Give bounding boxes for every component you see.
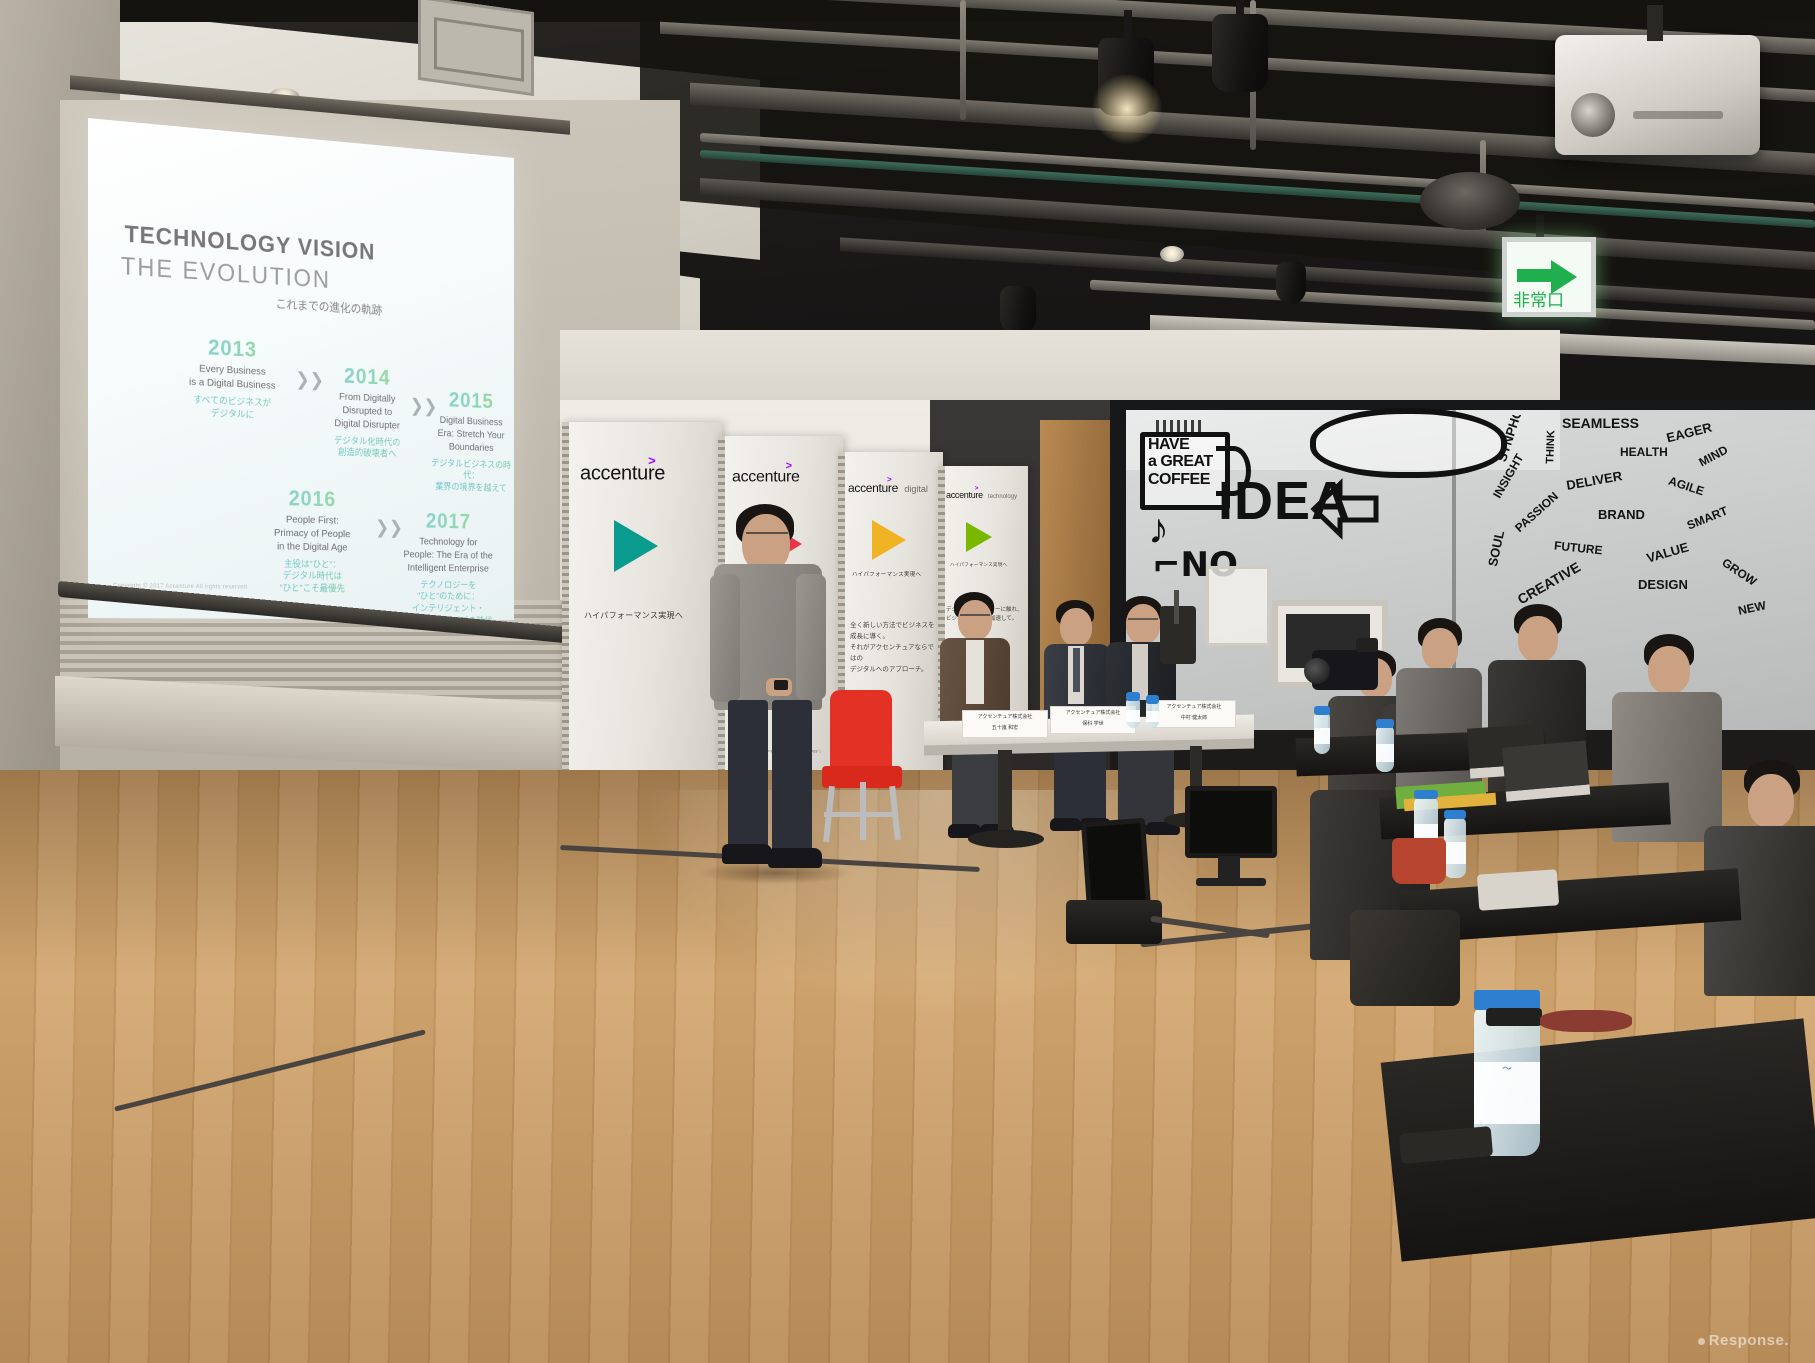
mic-stand-pole [1174,590,1179,624]
banner-tagline: ハイパフォーマンス実現へ [950,562,1007,568]
paper-stack [1477,869,1559,910]
nameplate-3: アクセンチュア株式会社中村 健太郎 [1152,700,1236,728]
table-pedestal-base [968,830,1044,848]
water-bottle [1376,726,1394,772]
timeline-en: From Digitally Disrupted to Digital Disr… [315,390,418,434]
banner-body: 全く新しい方法でビジネスを成長に導く。 それがアクセンチュアならではの デジタル… [850,620,938,675]
video-camera [1312,650,1378,690]
banner-chevron-icon [872,520,906,560]
timeline-jp: すべてのビジネスが デジタルに [172,394,292,424]
logo-accent-icon: > [648,453,655,468]
presenter-shadow [700,862,850,884]
timeline-en: Digital Business Era: Stretch Your Bound… [424,414,518,457]
nameplate-1: アクセンチュア株式会社五十嵐 和宏 [962,710,1048,738]
timeline-jp: デジタルビジネスの時代： 業界の境界を越えて [424,457,518,496]
slide-content: TECHNOLOGY VISION THE EVOLUTION これまでの進化の… [88,118,514,620]
slide-subtitle-jp: これまでの進化の軌跡 [276,295,383,318]
glass-frame [1110,400,1815,410]
banner-chevron-icon [614,520,658,572]
word-cloud-doodle: SYNPHONY SEAMLESS EAGER THINK HEALTH MIN… [1470,415,1815,635]
exit-sign: 非常口 [1502,237,1596,317]
logo-accent-icon: > [975,486,978,492]
backpack [1350,910,1460,1006]
nameplate-2: アクセンチュア株式会社保科 学世 [1050,706,1136,734]
bottle-label-art: 〜 [1486,1064,1528,1108]
equipment-case [1066,900,1162,944]
timeline-item-2014: 2014 From Digitally Disrupted to Digital… [315,362,418,463]
mug-steam-doodle [1152,420,1204,434]
projector-mount [1647,5,1663,41]
exit-sign-label: 非常口 [1513,292,1564,309]
logo-accent-icon: > [786,460,792,472]
timeline-item-2017: 2017 Technology for People: The Era of t… [393,508,503,628]
timeline-en: People First: Primacy of People in the D… [250,513,373,555]
logo-accent-icon: > [887,475,891,484]
picture-frame [1206,566,1270,646]
confidence-monitor [1185,786,1277,858]
timeline-jp: デジタル化時代の 創造的破壊者へ [315,434,418,462]
mug-text: HAVE a GREAT COFFEE [1148,436,1213,488]
water-bottle [1146,700,1159,728]
air-vent [418,0,534,96]
presenter-arm-right [796,574,826,700]
phone [1486,1008,1542,1026]
banner-logo: accenture> [580,460,672,486]
arrow-left-doodle [1310,478,1380,545]
monitor-base [1196,878,1266,886]
timeline-year: 2015 [424,386,518,415]
banner-logo-suffix: digital [904,484,928,494]
timeline-item-2013: 2013 Every Business is a Digital Busines… [172,333,292,424]
orange-object [1540,1010,1632,1032]
banner-logo: accenture>technology [946,490,1017,500]
watermark-dot-icon [1698,1338,1705,1345]
banner-logo: accenture> [732,466,806,486]
presenter [700,500,840,880]
timeline-jp: 主役は"ひと"： デジタル時代は "ひと"こそ最優先 [250,558,373,596]
presenter-leg-right [772,700,812,852]
floor-monitor [1081,818,1151,912]
banner-logo-suffix: technology [988,494,1017,500]
photo-scene: 非常口 TECHNOLOGY VISION THE EVOLUTION これまで… [0,0,1815,1363]
timeline-en: Every Business is a Digital Business [172,361,292,394]
banner-logo: accenture>digital [848,480,928,495]
ceiling-projector [1555,35,1760,155]
timeline-en: Technology for People: The Era of the In… [393,535,503,576]
red-cup [1392,838,1446,884]
ceiling-hanger [960,0,966,120]
banner-tagline: ハイパフォーマンス実現へ [852,570,921,578]
timeline-year: 2017 [393,508,503,535]
table-pedestal-column [998,750,1012,834]
panelist-3-glasses [1128,618,1158,628]
timeline-item-2016: 2016 People First: Primacy of People in … [250,485,373,597]
presenter-clicker [774,680,788,690]
downlight [1160,246,1184,262]
presenter-glasses [746,532,788,544]
projector-lens [1571,93,1615,137]
presenter-shoe-left [722,844,772,864]
banner-chevron-icon [966,522,992,552]
ceiling-dome [1420,172,1520,230]
water-bottle [1444,818,1466,878]
watermark: Response. [1698,1332,1789,1349]
panelist-1-glasses [960,614,990,624]
exit-arrow-right-icon [1517,258,1579,292]
monitor-stand [1218,856,1240,880]
presenter-leg-left [728,700,768,850]
timeline-year: 2013 [172,333,292,365]
banner-tagline: ハイパフォーマンス実現へ [584,610,683,621]
timeline-item-2015: 2015 Digital Business Era: Stretch Your … [424,386,518,496]
timeline-year: 2016 [250,485,373,513]
timeline-year: 2014 [315,362,418,392]
water-bottle [1126,698,1140,728]
water-bottle [1314,712,1330,754]
projection-screen: TECHNOLOGY VISION THE EVOLUTION これまでの進化の… [88,118,514,620]
presenter-arm-left [710,574,740,702]
